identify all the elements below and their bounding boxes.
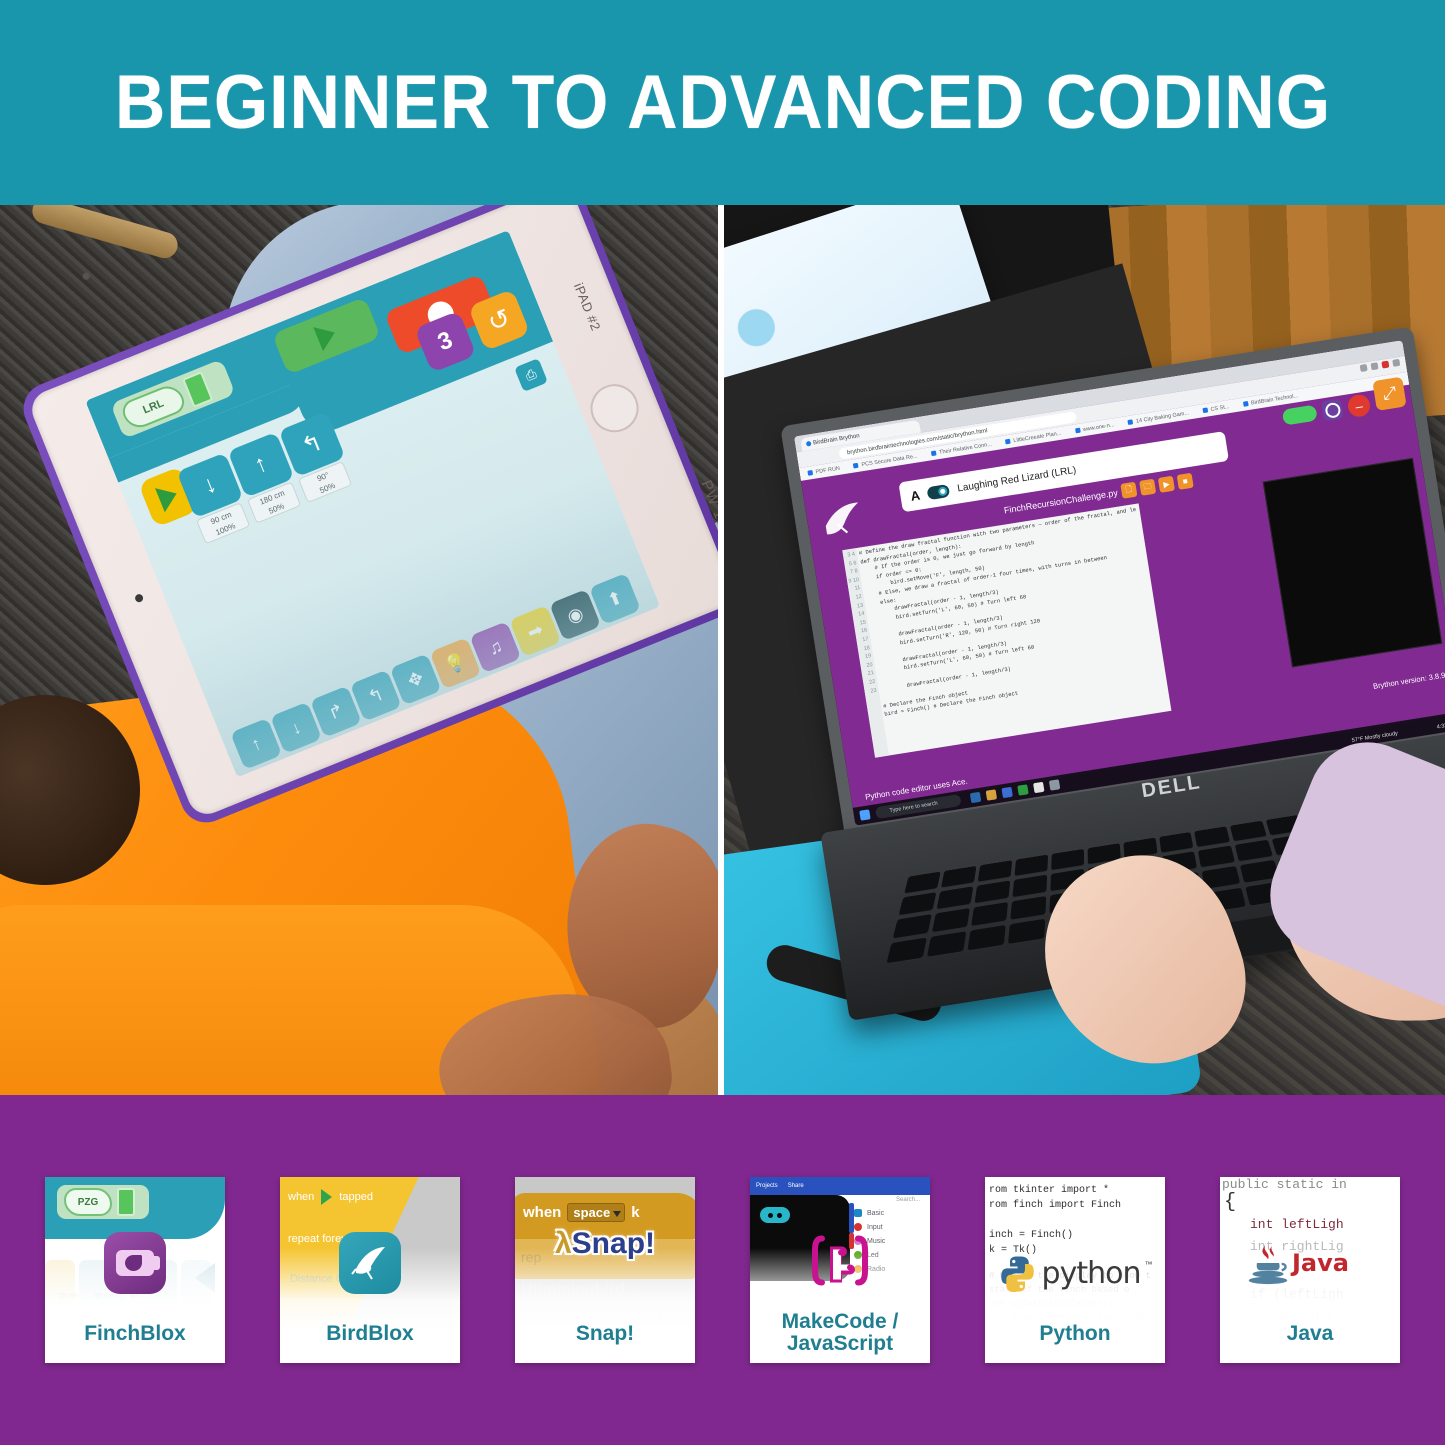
block-param: 90°50% (298, 461, 352, 503)
keyboard-key[interactable] (1159, 832, 1194, 853)
microbit-icon (760, 1207, 790, 1223)
promo-page: BEGINNER TO ADVANCED CODING iPAD #2 PW 1… (0, 0, 1445, 1445)
snap-wordmark: Snap! (572, 1227, 655, 1260)
keyboard-key[interactable] (893, 914, 932, 939)
app-icon-tile (104, 1232, 166, 1294)
keyboard-key[interactable] (1012, 875, 1047, 898)
header-banner: BEGINNER TO ADVANCED CODING (0, 0, 1445, 205)
page-title: BEGINNER TO ADVANCED CODING (114, 65, 1330, 141)
python-logo: python ™ (998, 1254, 1153, 1294)
card-python[interactable]: rom tkinter import * rom finch import Fi… (985, 1177, 1165, 1363)
card-label: Snap! (515, 1323, 695, 1345)
java-logo: Java (1246, 1239, 1349, 1287)
battery-status-pill (1282, 405, 1318, 426)
card-snap[interactable]: when space k rep Hummingbird wait secs λ… (515, 1177, 695, 1363)
connection-toggle-icon[interactable] (927, 483, 951, 499)
keyboard-key[interactable] (932, 908, 970, 933)
robot-name-badge: LRL (119, 381, 188, 432)
code-brace: { (1224, 1191, 1236, 1214)
bookmark-label: CS St... (1210, 404, 1230, 413)
keyboard-key[interactable] (967, 925, 1005, 951)
python-wordmark: python (1042, 1256, 1141, 1291)
robot-title: Laughing Red Lizard (LRL) (957, 464, 1077, 494)
category-icon (854, 1209, 862, 1217)
keyboard-key[interactable] (936, 886, 973, 910)
keyboard-key[interactable] (974, 880, 1010, 904)
keyboard-key[interactable] (886, 937, 927, 964)
card-label-line2: JavaScript (750, 1333, 930, 1355)
makecode-navbar: Projects Share (750, 1177, 930, 1195)
bookmark-favicon (1243, 401, 1249, 407)
expand-button[interactable]: ⤢ (1372, 377, 1406, 411)
extension-icon[interactable] (1360, 364, 1368, 372)
card-fade (515, 1248, 695, 1363)
language-card-list: PZG 25 cm 35 cm 60° (0, 1095, 1445, 1445)
extension-icon[interactable] (1371, 362, 1379, 370)
category-label: Basic (867, 1210, 884, 1217)
keyboard-key[interactable] (1195, 826, 1231, 847)
store-icon[interactable] (1001, 787, 1012, 798)
robot-letter: A (909, 487, 921, 503)
bookmark-label: BirdBrain Technol... (1251, 393, 1299, 406)
card-label: Java (1220, 1323, 1400, 1345)
stop-button[interactable]: ■ (1177, 473, 1194, 490)
block-word-when: when (523, 1204, 561, 1221)
card-label: Python (985, 1323, 1165, 1345)
hummingbird-icon (350, 1243, 390, 1283)
makecode-puzzle-icon (808, 1228, 872, 1292)
block-param: 180 cm50% (247, 482, 301, 524)
green-flag-icon (313, 320, 339, 351)
flag-icon (155, 481, 181, 512)
bookmark-favicon (1075, 428, 1081, 434)
led-dot (777, 1213, 782, 1218)
save-button[interactable]: ⎙ (514, 358, 548, 392)
profile-icon[interactable] (1392, 359, 1400, 367)
photo-child-with-laptop: BirdBrain Brython brython.birdbraintechn… (724, 205, 1445, 1095)
green-flag-icon (321, 1189, 332, 1205)
card-label: MakeCode / JavaScript (750, 1311, 930, 1355)
card-birdblox[interactable]: when tapped repeat forever Distance CM (280, 1177, 460, 1363)
bookmark-favicon (807, 470, 813, 476)
open-file-button[interactable]: 🗀 (1139, 479, 1156, 496)
code-line: inch = Finch() (989, 1230, 1073, 1241)
lambda-glyph: λ (555, 1227, 572, 1260)
keyboard-key[interactable] (971, 902, 1008, 927)
app-icon-tile (339, 1232, 401, 1294)
birdblox-app-icon (339, 1232, 401, 1294)
block-word-tapped: tapped (339, 1191, 373, 1203)
keyboard-key[interactable] (927, 931, 967, 958)
taskbar-clock: 4:32 PM (1436, 721, 1445, 730)
keyboard-key[interactable] (1198, 845, 1235, 868)
bookmark-item[interactable]: www.one-n... (1075, 422, 1115, 434)
bookmark-item[interactable]: PDF RUN (807, 465, 840, 476)
keyboard-key[interactable] (1235, 840, 1273, 862)
card-label-line1: MakeCode / (750, 1311, 930, 1333)
chrome-icon[interactable] (1049, 779, 1060, 790)
run-button[interactable]: ▶ (1158, 476, 1175, 493)
photo-child-with-ipad: iPAD #2 PW 123456 LRL (0, 205, 718, 1095)
python-snake-icon (998, 1254, 1038, 1294)
robot-chip: PZG (57, 1185, 149, 1219)
extension-icon[interactable] (1381, 361, 1389, 369)
code-editor[interactable]: 3 4 5 6 7 8 9 10 11 12 13 14 15 16 17 18… (842, 503, 1171, 757)
keyboard-key[interactable] (1051, 849, 1084, 871)
bookmark-favicon (853, 463, 859, 469)
new-file-button[interactable]: 🗋 (1120, 482, 1137, 499)
bookmark-favicon (931, 450, 937, 456)
keyboard-key[interactable] (1008, 919, 1045, 945)
hat-block-row: when space k (523, 1203, 640, 1222)
connected-robot-chip[interactable]: LRL (110, 359, 235, 439)
block-word-key: k (631, 1204, 639, 1221)
led-dot (768, 1213, 773, 1218)
java-coffee-cup-icon (1246, 1239, 1290, 1287)
block-word-when: when (288, 1191, 314, 1203)
edge-icon[interactable] (970, 792, 981, 803)
compass-button[interactable] (1321, 398, 1344, 421)
makecode-logo (808, 1228, 872, 1297)
robot-name-badge: PZG (64, 1188, 112, 1216)
birdbrain-bird-logo (819, 499, 866, 541)
nav-share[interactable]: Share (788, 1183, 804, 1189)
code-line: int leftLigh (1250, 1217, 1344, 1232)
brython-version-label: Brython version: 3.8.9 (1372, 671, 1445, 691)
card-label: FinchBlox (45, 1323, 225, 1345)
finch-robot-glyph (116, 1250, 154, 1276)
keyboard-key[interactable] (1010, 896, 1046, 921)
start-icon[interactable] (859, 809, 870, 820)
bookmark-item[interactable]: CS St... (1202, 404, 1230, 414)
search-label[interactable]: Search... (854, 1197, 926, 1203)
ipad-home-button[interactable] (583, 377, 645, 439)
card-java[interactable]: public static in { int leftLigh int righ… (1220, 1177, 1400, 1363)
battery-icon (182, 371, 213, 408)
when-tapped-block: when tapped (280, 1177, 396, 1217)
trademark-symbol: ™ (1144, 1260, 1152, 1269)
block-param: 90 cm100% (196, 502, 250, 544)
disconnect-button[interactable]: – (1346, 393, 1371, 418)
code-line: rom tkinter import * (989, 1185, 1109, 1196)
ipad-inventory-label: iPAD #2 (571, 281, 604, 333)
snap-logo: λSnap! (555, 1227, 655, 1261)
bookmark-favicon (1128, 419, 1134, 425)
nav-projects[interactable]: Projects (756, 1183, 778, 1189)
card-finchblox[interactable]: PZG 25 cm 35 cm 60° (45, 1177, 225, 1363)
card-makecode[interactable]: Projects Share Search... Basic Input Mus… (750, 1177, 930, 1363)
card-label: BirdBlox (280, 1323, 460, 1345)
settings-icon[interactable] (1033, 782, 1044, 793)
ipad-camera (134, 593, 144, 603)
finchblox-app-icon (104, 1232, 166, 1294)
java-wordmark: Java (1292, 1249, 1349, 1277)
toolbox-category[interactable]: Basic (854, 1209, 926, 1217)
output-stage (1263, 458, 1443, 667)
keyboard-key[interactable] (1230, 821, 1267, 842)
key-dropdown[interactable]: space (567, 1203, 625, 1222)
bookmark-label: LittleCreeate Plan... (1013, 430, 1062, 443)
code-line: rom finch import Finch (989, 1200, 1121, 1211)
language-strip: PZG 25 cm 35 cm 60° (0, 1095, 1445, 1445)
bookmark-label: PDF RUN (815, 465, 840, 475)
keyboard-key[interactable] (898, 892, 936, 916)
bookmark-favicon (1005, 439, 1011, 445)
photo-strip: iPAD #2 PW 123456 LRL (0, 205, 1445, 1095)
excel-icon[interactable] (1017, 784, 1028, 795)
bookmark-label: www.one-n... (1082, 422, 1114, 433)
bookmark-favicon (1202, 407, 1208, 413)
explorer-icon[interactable] (986, 789, 997, 800)
code-line-top: public static in (1222, 1177, 1347, 1192)
battery-icon (117, 1188, 135, 1216)
code-text: # Define the draw fractal function with … (858, 506, 1163, 720)
compass-icon (1324, 401, 1341, 418)
